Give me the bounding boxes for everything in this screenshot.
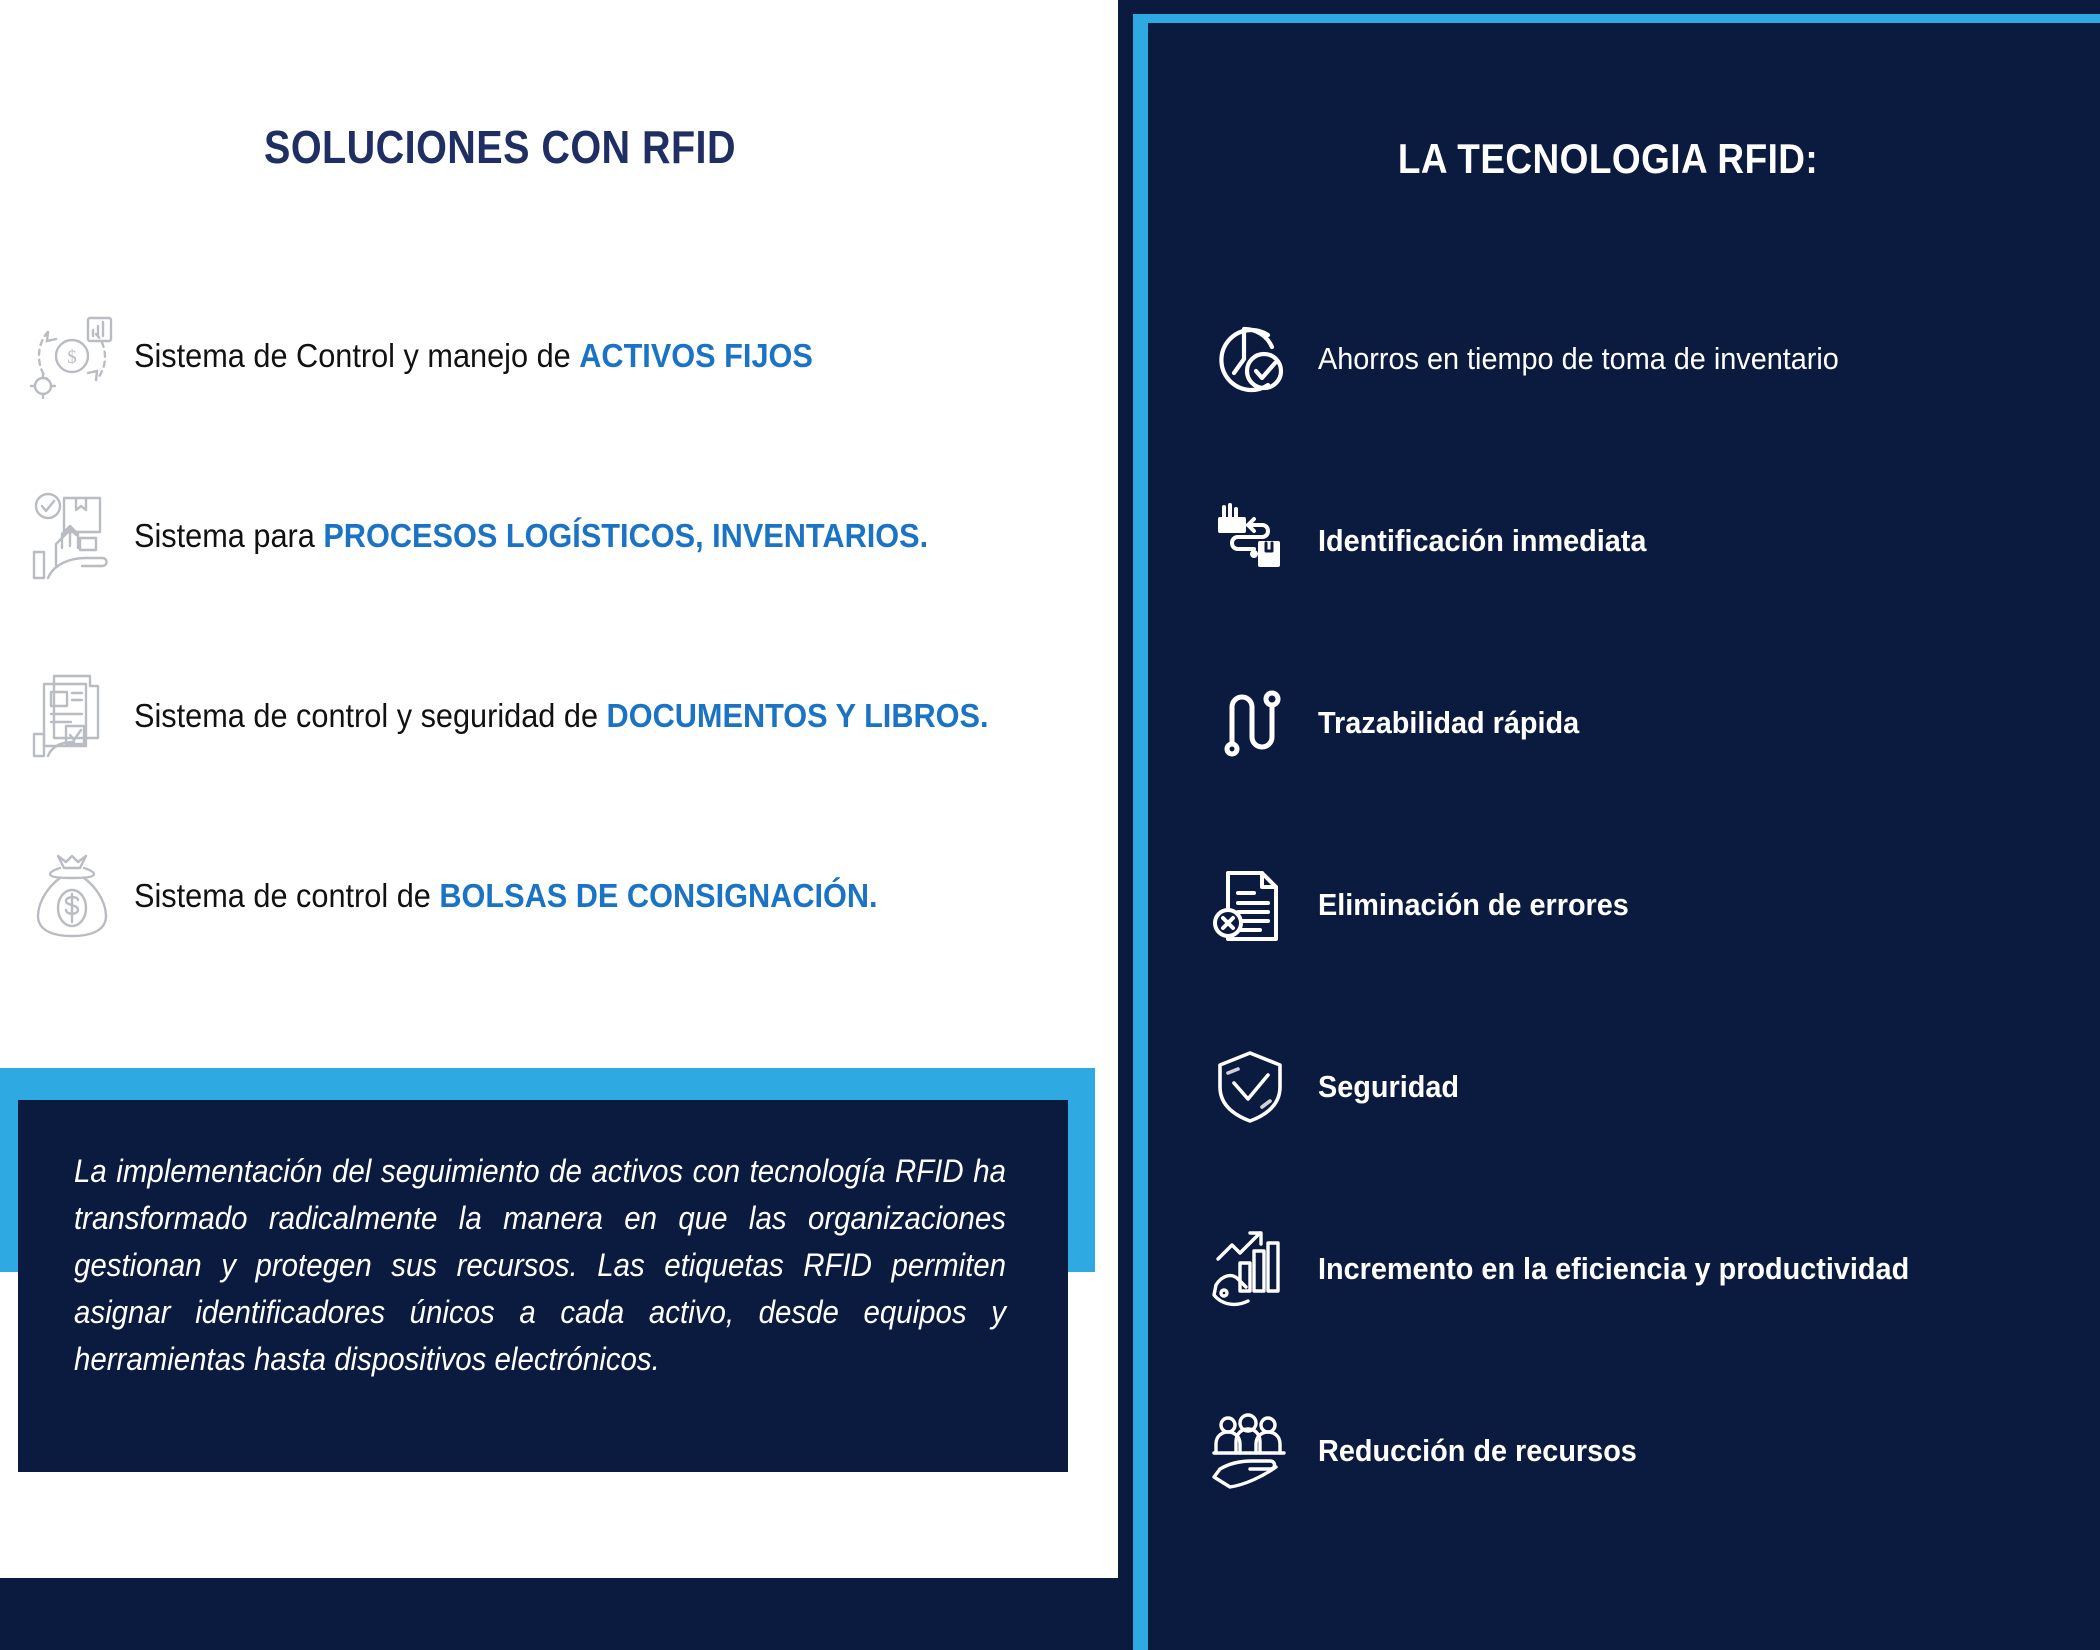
asset-cycle-dollar-chart-gear-icon: $ (24, 308, 120, 404)
money-bag-dollar-icon (24, 848, 120, 944)
technology-benefits-list: Ahorros en tiempo de toma de inventario … (1208, 313, 2100, 1587)
solutions-list: $ Sistema de Control y manejo de ACTIVOS… (10, 300, 1110, 1020)
left-panel: SOLUCIONES CON RFID $ Sistema (0, 0, 1118, 1578)
solution-text-plain: Sistema de control de (134, 877, 439, 914)
svg-text:$: $ (67, 347, 77, 368)
benefit-item-trazabilidad-rapida[interactable]: Trazabilidad rápida (1208, 677, 2100, 769)
benefit-item-label: Eliminación de errores (1318, 887, 1629, 923)
solution-text-plain: Sistema para (134, 517, 323, 554)
solution-text-plain: Sistema de control y seguridad de (134, 697, 607, 734)
benefit-item-label: Seguridad (1318, 1069, 1459, 1105)
hand-tag-cable-icon (1208, 499, 1292, 583)
solution-item-bolsas-consignacion[interactable]: Sistema de control de BOLSAS DE CONSIGNA… (10, 840, 1110, 952)
benefit-item-label: Ahorros en tiempo de toma de inventario (1318, 341, 1839, 377)
solution-text-plain: Sistema de Control y manejo de (134, 337, 579, 374)
benefit-item-reduccion-recursos[interactable]: Reducción de recursos (1208, 1405, 2100, 1497)
hand-package-check-logistics-icon (24, 488, 120, 584)
solution-item-procesos-logisticos[interactable]: Sistema para PROCESOS LOGÍSTICOS, INVENT… (10, 480, 1110, 592)
benefit-item-identificacion-inmediata[interactable]: Identificación inmediata (1208, 495, 2100, 587)
people-group-hand-icon (1208, 1409, 1292, 1493)
solution-item-text: Sistema para PROCESOS LOGÍSTICOS, INVENT… (134, 517, 928, 555)
benefit-item-incremento-eficiencia[interactable]: Incremento en la eficiencia y productivi… (1208, 1223, 2100, 1315)
shield-check-icon (1208, 1045, 1292, 1129)
solution-item-documentos-libros[interactable]: Sistema de control y seguridad de DOCUME… (10, 660, 1110, 772)
benefit-item-label: Reducción de recursos (1318, 1433, 1637, 1469)
document-check-hand-icon (24, 668, 120, 764)
solution-item-activos-fijos[interactable]: $ Sistema de Control y manejo de ACTIVOS… (10, 300, 1110, 412)
growth-chart-hand-icon (1208, 1227, 1292, 1311)
right-panel-title: LA TECNOLOGIA RFID: (1203, 135, 2013, 183)
solution-text-highlight: ACTIVOS FIJOS (579, 337, 813, 374)
benefit-item-label: Incremento en la eficiencia y productivi… (1318, 1251, 1909, 1287)
benefit-item-ahorros-tiempo[interactable]: Ahorros en tiempo de toma de inventario (1208, 313, 2100, 405)
document-error-x-icon (1208, 863, 1292, 947)
quote-text: La implementación del seguimiento de act… (74, 1148, 1006, 1383)
clock-check-icon (1208, 317, 1292, 401)
benefit-item-label: Identificación inmediata (1318, 523, 1646, 559)
quote-box: La implementación del seguimiento de act… (18, 1100, 1068, 1472)
left-panel-title: SOLUCIONES CON RFID (70, 120, 930, 174)
benefit-item-label: Trazabilidad rápida (1318, 705, 1579, 741)
right-panel: LA TECNOLOGIA RFID: Ahorros en tiempo de… (1133, 14, 2100, 1650)
solution-text-highlight: PROCESOS LOGÍSTICOS, INVENTARIOS. (323, 517, 928, 554)
benefit-item-seguridad[interactable]: Seguridad (1208, 1041, 2100, 1133)
solution-item-text: Sistema de control y seguridad de DOCUME… (134, 697, 989, 735)
solution-item-text: Sistema de control de BOLSAS DE CONSIGNA… (134, 877, 878, 915)
solution-text-highlight: BOLSAS DE CONSIGNACIÓN. (439, 877, 877, 914)
solution-text-highlight: DOCUMENTOS Y LIBROS. (607, 697, 989, 734)
route-path-icon (1208, 681, 1292, 765)
benefit-item-eliminacion-errores[interactable]: Eliminación de errores (1208, 859, 2100, 951)
solution-item-text: Sistema de Control y manejo de ACTIVOS F… (134, 337, 813, 375)
